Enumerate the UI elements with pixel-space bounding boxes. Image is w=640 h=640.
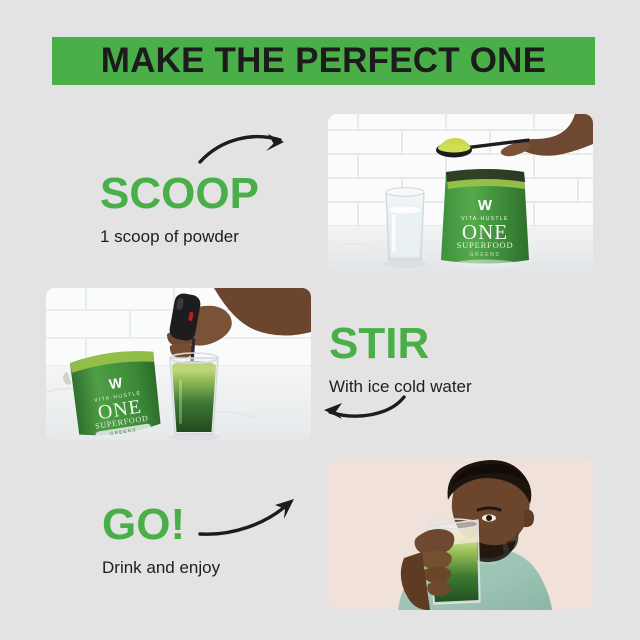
go-photo-illustration [328,458,593,610]
scoop-photo-illustration: W VITA·HUSTLE ONE SUPERFOOD GREENS [328,114,593,272]
step-stir-heading: STIR [329,322,472,366]
step-go-subtitle: Drink and enjoy [102,559,220,576]
step-scoop-subtitle: 1 scoop of powder [100,228,259,245]
photo-go [328,458,593,610]
step-stir-text: STIR With ice cold water [329,322,472,395]
curved-arrow-up-right-icon [196,496,306,547]
header-banner: MAKE THE PERFECT ONE [52,37,595,85]
svg-text:GREENS: GREENS [470,252,501,258]
step-scoop-text: SCOOP 1 scoop of powder [100,172,259,245]
product-pouch: W VITA·HUSTLE ONE SUPERFOOD GREENS [441,169,529,269]
infographic-page: MAKE THE PERFECT ONE [0,0,640,640]
step-scoop-heading: SCOOP [100,172,259,216]
photo-stir: W VITA·HUSTLE ONE SUPERFOOD GREENS [46,288,311,440]
curved-arrow-right-icon [196,126,292,173]
svg-text:W: W [478,197,493,214]
curved-arrow-left-icon [312,391,410,432]
water-glass [383,188,427,268]
green-drink-glass [168,353,220,440]
photo-scoop: W VITA·HUSTLE ONE SUPERFOOD GREENS [328,114,593,272]
svg-text:SUPERFOOD: SUPERFOOD [457,240,514,250]
stir-photo-illustration: W VITA·HUSTLE ONE SUPERFOOD GREENS [46,288,311,440]
page-title: MAKE THE PERFECT ONE [101,41,546,81]
